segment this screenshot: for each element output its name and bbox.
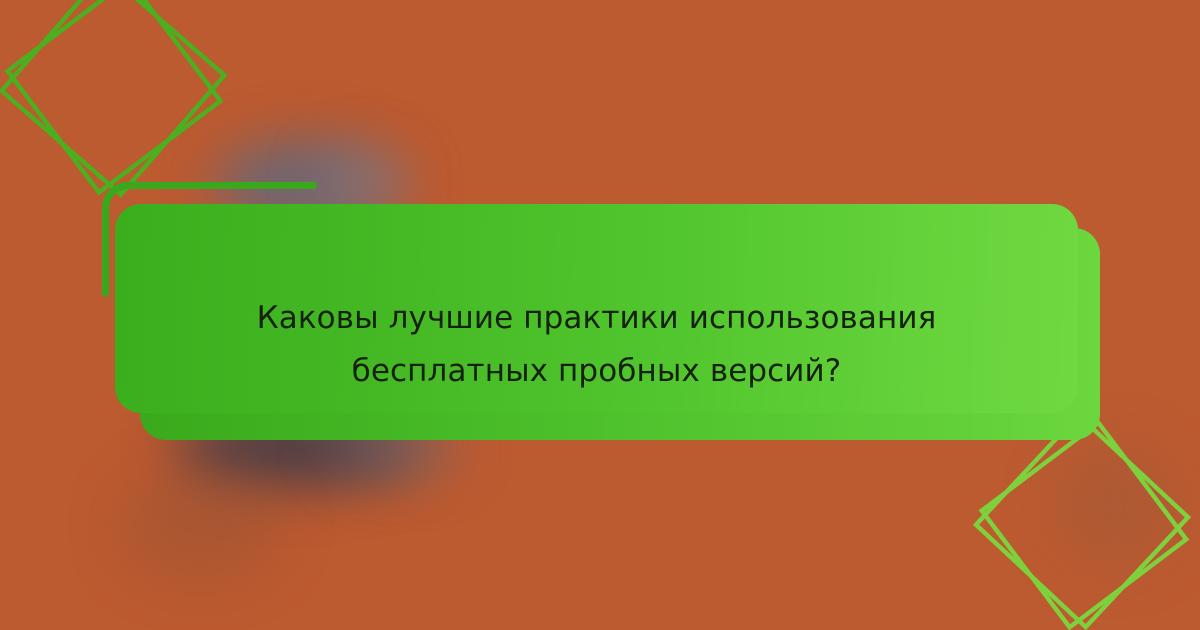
headline-card: Каковы лучшие практики использования бес… [115, 204, 1078, 413]
social-card-canvas: Каковы лучшие практики использования бес… [0, 0, 1200, 630]
headline-text: Каковы лучшие практики использования бес… [115, 292, 1078, 398]
